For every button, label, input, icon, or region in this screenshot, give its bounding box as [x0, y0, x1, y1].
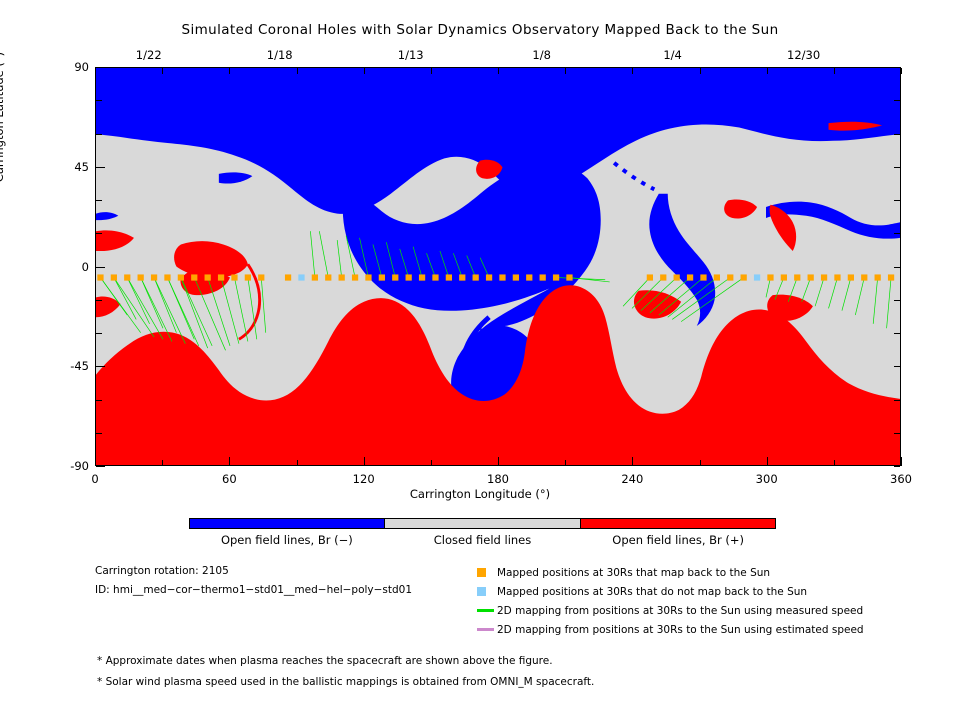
figure-title: Simulated Coronal Holes with Solar Dynam…: [0, 22, 960, 38]
mapped-marker: [379, 274, 385, 280]
mapped-marker: [124, 274, 130, 280]
y-tick-label: 0: [53, 260, 89, 274]
mapped-marker: [164, 274, 170, 280]
x-tick-top: [364, 68, 365, 74]
mapped-marker: [352, 274, 358, 280]
colorbar-segment-label: Open field lines, Br (+): [612, 533, 744, 547]
y-tick-label: 90: [53, 60, 89, 74]
y-tick-left: [96, 200, 102, 201]
legend-line-swatch: [477, 628, 494, 631]
mapped-marker: [834, 274, 840, 280]
mapping-legend: Mapped positions at 30Rs that map back t…: [477, 563, 864, 639]
mapped-marker: [566, 274, 572, 280]
x-tick-bottom: [431, 460, 432, 466]
top-date-label: 1/13: [398, 48, 424, 62]
x-tick-major: [901, 457, 902, 466]
x-tick-top: [229, 68, 230, 74]
x-tick-top: [162, 68, 163, 74]
mapped-marker: [432, 274, 438, 280]
x-axis-title: Carrington Longitude (°): [0, 487, 960, 501]
colorbar-segment-label: Open field lines, Br (−): [221, 533, 353, 547]
x-tick-top: [565, 68, 566, 74]
y-tick-right: [894, 466, 900, 467]
synoptic-map-plot: [95, 67, 901, 466]
top-date-label: 1/22: [136, 48, 162, 62]
mapped-marker: [875, 274, 881, 280]
unmapped-marker: [754, 274, 760, 280]
mapped-marker: [861, 274, 867, 280]
coronal-hole-map: [96, 68, 900, 465]
x-tick-top: [431, 68, 432, 74]
legend-square-swatch: [477, 568, 486, 577]
x-tick-top: [297, 68, 298, 74]
x-tick-label: 0: [91, 472, 98, 486]
y-tick-label: -45: [53, 359, 89, 373]
y-tick-right: [894, 200, 900, 201]
y-tick-label: -90: [53, 459, 89, 473]
x-tick-label: 120: [353, 472, 375, 486]
mapped-marker: [486, 274, 492, 280]
mapped-marker: [178, 274, 184, 280]
y-tick-left: [96, 433, 102, 434]
mapped-marker: [513, 274, 519, 280]
legend-item: 2D mapping from positions at 30Rs to the…: [477, 620, 864, 639]
mapped-marker: [339, 274, 345, 280]
y-tick-left: [96, 400, 102, 401]
mapped-marker: [700, 274, 706, 280]
mapped-marker: [687, 274, 693, 280]
mapped-marker: [258, 274, 264, 280]
x-tick-bottom: [700, 460, 701, 466]
y-tick-label: 45: [53, 160, 89, 174]
mapped-marker: [848, 274, 854, 280]
y-tick-right: [894, 100, 900, 101]
x-tick-bottom: [565, 460, 566, 466]
legend-item-label: Mapped positions at 30Rs that do not map…: [497, 586, 807, 598]
mapped-marker: [459, 274, 465, 280]
x-tick-top: [834, 68, 835, 74]
mapped-marker: [151, 274, 157, 280]
mapped-marker: [781, 274, 787, 280]
mapped-marker: [526, 274, 532, 280]
mapped-marker: [647, 274, 653, 280]
mapped-marker: [205, 274, 211, 280]
y-tick-right: [894, 333, 900, 334]
x-tick-major: [498, 457, 499, 466]
mapped-marker: [794, 274, 800, 280]
colorbar-segment-label: Closed field lines: [434, 533, 532, 547]
mapped-marker: [392, 274, 398, 280]
model-id-text: ID: hmi__med−cor−thermo1−std01__med−hel−…: [95, 584, 412, 596]
mapped-marker: [888, 274, 894, 280]
y-tick-right: [894, 267, 900, 268]
x-tick-bottom: [297, 460, 298, 466]
x-tick-top: [498, 68, 499, 74]
colorbar-segment: [385, 519, 580, 528]
mapped-marker: [218, 274, 224, 280]
mapped-marker: [191, 274, 197, 280]
y-tick-left: [96, 233, 102, 234]
y-tick-left: [96, 300, 102, 301]
mapped-marker: [406, 274, 412, 280]
figure-root: Simulated Coronal Holes with Solar Dynam…: [0, 0, 960, 720]
mapped-marker: [419, 274, 425, 280]
top-date-label: 1/8: [532, 48, 551, 62]
legend-item: Mapped positions at 30Rs that map back t…: [477, 563, 864, 582]
legend-item: 2D mapping from positions at 30Rs to the…: [477, 601, 864, 620]
mapped-marker: [767, 274, 773, 280]
mapped-marker: [312, 274, 318, 280]
x-tick-top: [632, 68, 633, 74]
mapped-marker: [97, 274, 103, 280]
x-tick-major: [95, 457, 96, 466]
legend-item: Mapped positions at 30Rs that do not map…: [477, 582, 864, 601]
x-tick-label: 360: [890, 472, 912, 486]
legend-square-swatch: [477, 587, 486, 596]
y-tick-right: [894, 433, 900, 434]
y-tick-right: [894, 300, 900, 301]
x-tick-top: [700, 68, 701, 74]
y-tick-right: [894, 134, 900, 135]
mapped-marker: [553, 274, 559, 280]
legend-line-swatch: [477, 609, 494, 612]
mapped-marker: [325, 274, 331, 280]
x-tick-label: 240: [621, 472, 643, 486]
top-date-label: 1/18: [267, 48, 293, 62]
x-tick-major: [229, 457, 230, 466]
carrington-rotation-text: Carrington rotation: 2105: [95, 565, 229, 577]
y-tick-right: [894, 366, 900, 367]
x-tick-top: [901, 68, 902, 74]
top-date-label: 1/4: [663, 48, 682, 62]
mapped-marker: [727, 274, 733, 280]
y-tick-major: [96, 366, 105, 367]
mapped-marker: [660, 274, 666, 280]
mapped-marker: [231, 274, 237, 280]
x-tick-label: 180: [487, 472, 509, 486]
legend-item-label: 2D mapping from positions at 30Rs to the…: [497, 605, 863, 617]
colorbar-segment: [190, 519, 385, 528]
x-tick-bottom: [162, 460, 163, 466]
mapped-marker: [808, 274, 814, 280]
y-tick-major: [96, 267, 105, 268]
x-tick-major: [364, 457, 365, 466]
y-tick-major: [96, 466, 105, 467]
mapped-marker: [365, 274, 371, 280]
x-tick-label: 300: [756, 472, 778, 486]
mapped-marker: [446, 274, 452, 280]
mapped-marker: [499, 274, 505, 280]
y-tick-major: [96, 67, 105, 68]
x-tick-label: 60: [222, 472, 237, 486]
mapped-marker: [111, 274, 117, 280]
x-tick-top: [95, 68, 96, 74]
y-tick-left: [96, 333, 102, 334]
x-tick-major: [632, 457, 633, 466]
mapped-marker: [285, 274, 291, 280]
mapped-marker: [674, 274, 680, 280]
y-tick-right: [894, 67, 900, 68]
y-tick-right: [894, 400, 900, 401]
y-tick-right: [894, 167, 900, 168]
legend-item-label: Mapped positions at 30Rs that map back t…: [497, 567, 770, 579]
mapped-marker: [473, 274, 479, 280]
mapped-marker: [714, 274, 720, 280]
y-axis-title: Carrington Latitude (°): [0, 0, 6, 267]
mapped-marker: [741, 274, 747, 280]
x-tick-major: [767, 457, 768, 466]
mapped-marker: [540, 274, 546, 280]
x-tick-top: [767, 68, 768, 74]
y-tick-major: [96, 167, 105, 168]
footnote-dates: * Approximate dates when plasma reaches …: [97, 655, 553, 667]
field-line-colorbar: [189, 518, 776, 529]
y-tick-left: [96, 100, 102, 101]
x-tick-bottom: [834, 460, 835, 466]
y-tick-right: [894, 233, 900, 234]
footnote-speed: * Solar wind plasma speed used in the ba…: [97, 676, 594, 688]
mapped-marker: [245, 274, 251, 280]
top-date-label: 12/30: [787, 48, 820, 62]
colorbar-segment: [581, 519, 775, 528]
y-tick-left: [96, 134, 102, 135]
legend-item-label: 2D mapping from positions at 30Rs to the…: [497, 624, 864, 636]
unmapped-marker: [298, 274, 304, 280]
mapped-marker: [138, 274, 144, 280]
mapped-marker: [821, 274, 827, 280]
